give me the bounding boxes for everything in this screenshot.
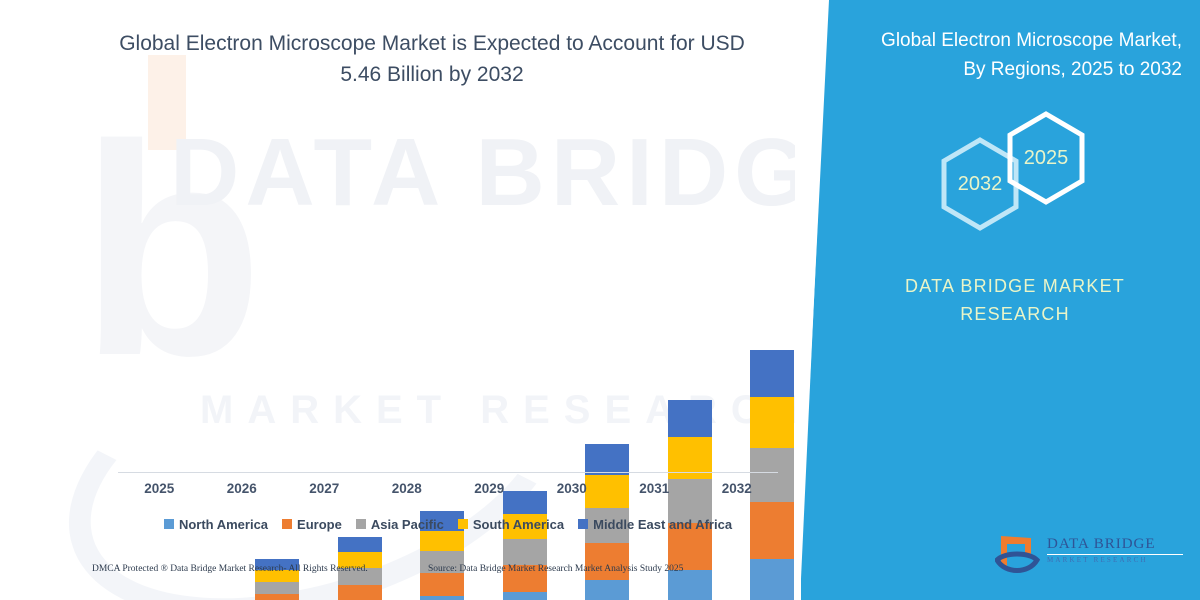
legend-swatch-icon	[578, 519, 588, 529]
legend-swatch-icon	[282, 519, 292, 529]
legend-item[interactable]: North America	[164, 517, 268, 532]
x-axis-label-2026: 2026	[202, 481, 282, 503]
bar-segment	[585, 444, 629, 474]
data-bridge-logo-subtext: MARKET RESEARCH	[1047, 556, 1187, 564]
footer-source: Source: Data Bridge Market Research Mark…	[428, 564, 683, 574]
bar-segment	[750, 350, 794, 397]
x-axis-label-2025: 2025	[119, 481, 199, 503]
legend-swatch-icon	[458, 519, 468, 529]
x-axis-label-2029: 2029	[449, 481, 529, 503]
data-bridge-logo-mark	[995, 534, 1041, 576]
chart-baseline-axis	[118, 472, 778, 473]
data-bridge-logo: DATA BRIDGE MARKET RESEARCH	[995, 532, 1185, 580]
infographic-canvas: b DATA BRIDGE MARKET RESEARCH Global Ele…	[0, 0, 1200, 600]
data-bridge-logo-text: DATA BRIDGE	[1047, 536, 1187, 553]
logo-divider	[1047, 554, 1183, 555]
x-axis-label-2027: 2027	[284, 481, 364, 503]
x-axis-label-2030: 2030	[532, 481, 612, 503]
legend-item[interactable]: South America	[458, 517, 564, 532]
bar-segment	[255, 594, 299, 600]
legend-item[interactable]: Asia Pacific	[356, 517, 444, 532]
legend-swatch-icon	[164, 519, 174, 529]
legend-label: Asia Pacific	[371, 517, 444, 532]
chart-x-axis-labels: 20252026202720282029203020312032	[118, 481, 778, 503]
panel-brand-text: DATA BRIDGE MARKET RESEARCH	[870, 272, 1160, 328]
panel-title-line1: Global Electron Microscope Market,	[881, 30, 1182, 51]
bar-segment	[503, 592, 547, 600]
panel-brand-line2: RESEARCH	[870, 300, 1160, 328]
bar-2031	[750, 350, 794, 600]
legend-item[interactable]: Europe	[282, 517, 342, 532]
legend-label: North America	[179, 517, 268, 532]
x-axis-label-2031: 2031	[614, 481, 694, 503]
legend-label: South America	[473, 517, 564, 532]
bar-segment	[503, 539, 547, 565]
footer: DMCA Protected ® Data Bridge Market Rese…	[0, 564, 800, 588]
panel-title-line2: By Regions, 2025 to 2032	[826, 55, 1182, 84]
x-axis-label-2032: 2032	[697, 481, 777, 503]
legend-swatch-icon	[356, 519, 366, 529]
hexagon-2025-label: 2025	[1004, 110, 1088, 206]
x-axis-label-2028: 2028	[367, 481, 447, 503]
legend-label: Middle East and Africa	[593, 517, 732, 532]
hexagon-2025: 2025	[1004, 110, 1088, 206]
panel-title: Global Electron Microscope Market, By Re…	[826, 26, 1182, 84]
bar-segment	[338, 537, 382, 553]
chart-legend: North AmericaEuropeAsia PacificSouth Ame…	[118, 512, 778, 536]
page-title: Global Electron Microscope Market is Exp…	[96, 28, 768, 90]
bar-segment	[420, 596, 464, 600]
bar-segment	[668, 400, 712, 437]
stacked-bar-chart	[118, 150, 778, 475]
bar-segment	[750, 397, 794, 448]
footer-copyright: DMCA Protected ® Data Bridge Market Rese…	[92, 564, 368, 574]
panel-brand-line1: DATA BRIDGE MARKET	[870, 272, 1160, 300]
legend-label: Europe	[297, 517, 342, 532]
legend-item[interactable]: Middle East and Africa	[578, 517, 732, 532]
